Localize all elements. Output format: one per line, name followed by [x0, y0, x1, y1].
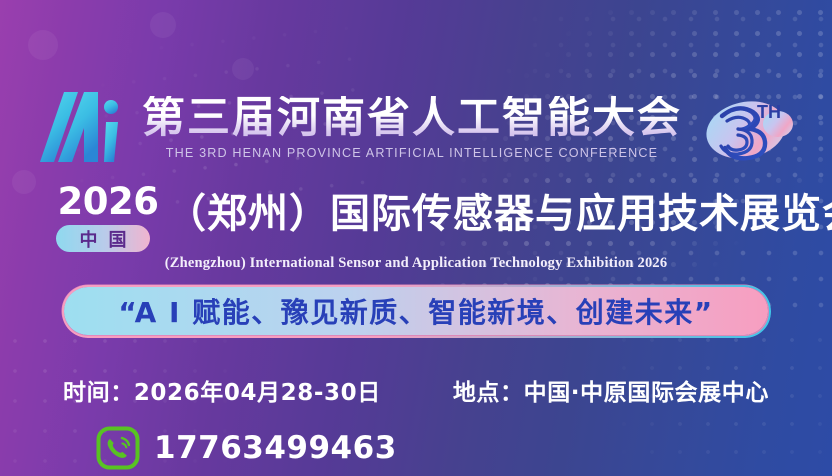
slogan-text: “A I 赋能、豫见新质、智能新境、创建未来” [118, 291, 713, 331]
exhibition-title-en: (Zhengzhou) International Sensor and App… [0, 255, 832, 272]
country-char-2: 国 [109, 226, 127, 252]
event-venue: 地点：中国·中原国际会展中心 [453, 373, 769, 407]
exhibition-banner: 第三届河南省人工智能大会 THE 3RD HENAN PROVINCE ARTI… [0, 0, 832, 476]
contact-row[interactable]: 17763499463 [96, 426, 397, 470]
event-date: 时间：2026年04月28-30日 [63, 373, 381, 407]
decorative-circle [150, 12, 176, 38]
decorative-circle [232, 58, 254, 80]
info-row: 时间：2026年04月28-30日 地点：中国·中原国际会展中心 [0, 373, 832, 407]
exhibition-title: （郑州）国际传感器与应用技术展览会 [166, 181, 832, 239]
decorative-circle [28, 30, 58, 60]
edition-badge: TH [702, 86, 794, 170]
slogan-banner: “A I 赋能、豫见新质、智能新境、创建未来” [64, 287, 768, 335]
year-label: 2026 [58, 180, 159, 223]
svg-text:TH: TH [757, 102, 781, 122]
country-pill: 中 国 [56, 225, 150, 252]
year-block: 2026 中 国 [56, 183, 160, 252]
country-char-1: 中 [80, 226, 98, 252]
ai-logo-icon [38, 88, 124, 168]
title-row: 第三届河南省人工智能大会 THE 3RD HENAN PROVINCE ARTI… [0, 82, 832, 174]
subtitle-row: 2026 中 国 （郑州）国际传感器与应用技术展览会 (Zhengzhou) I… [0, 183, 832, 261]
phone-number[interactable]: 17763499463 [154, 430, 397, 466]
page-subtitle-en: THE 3RD HENAN PROVINCE ARTIFICIAL INTELL… [166, 146, 658, 160]
page-title: 第三届河南省人工智能大会 [142, 96, 682, 141]
title-block: 第三届河南省人工智能大会 THE 3RD HENAN PROVINCE ARTI… [142, 96, 682, 159]
phone-call-icon [96, 426, 140, 470]
